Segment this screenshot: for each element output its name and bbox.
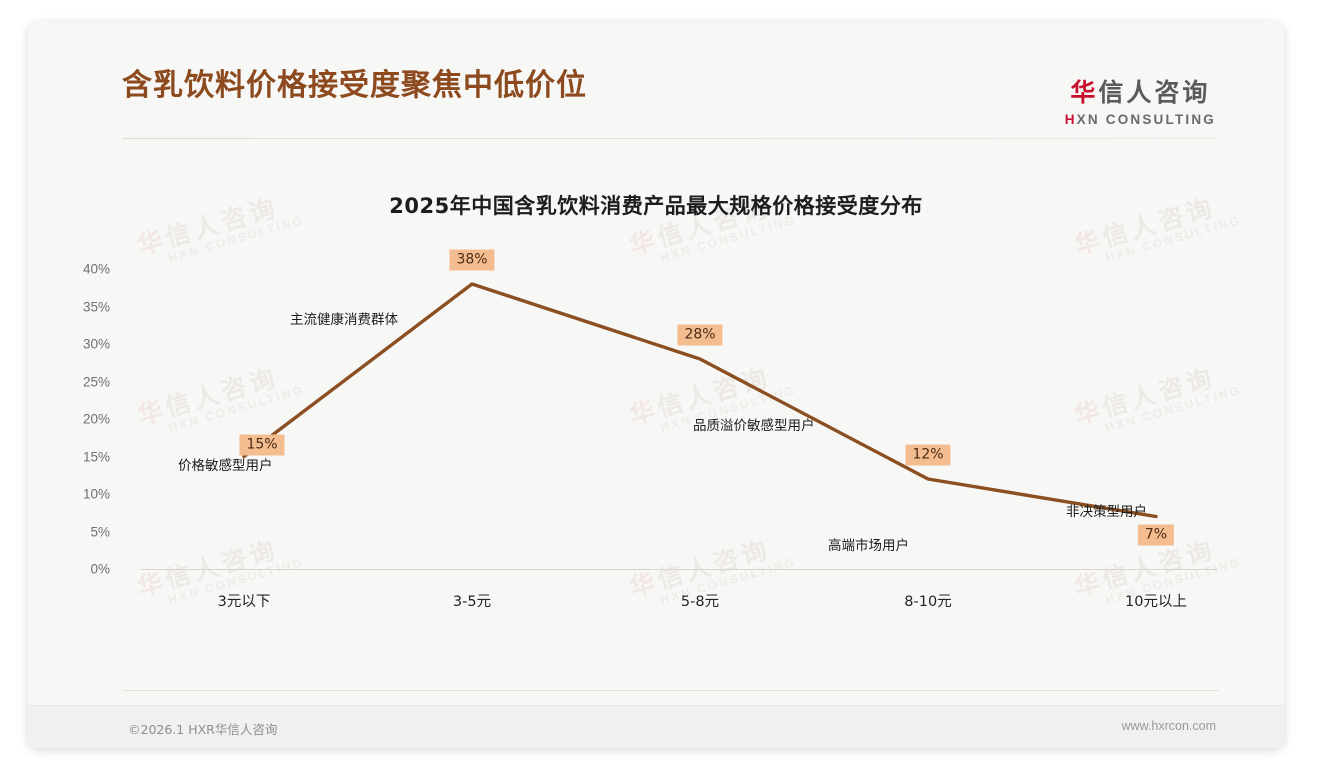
website-url: www.hxrcon.com [1122,719,1216,733]
chart-svg [28,22,1284,748]
x-axis-tick-label: 10元以上 [1125,590,1187,611]
logo-en-rest: XN CONSULTING [1077,112,1216,127]
logo-english: HXN CONSULTING [1065,112,1216,127]
chart-annotation: 品质溢价敏感型用户 [693,414,815,434]
brand-logo: 华信人咨询 HXN CONSULTING [1065,80,1216,127]
data-point-label: 12% [905,445,950,466]
bottom-bar: ©2026.1 HXR华信人咨询 www.hxrcon.com [28,705,1284,748]
x-axis-tick-label: 3-5元 [453,590,491,611]
logo-chinese: 华信人咨询 [1065,80,1216,105]
data-point-label: 15% [239,434,284,455]
line-chart: 0%5%10%15%20%25%30%35%40%3元以下3-5元5-8元8-1… [28,22,1284,748]
logo-cn-red: 华 [1070,78,1098,107]
header-divider [122,138,1219,139]
x-axis-tick-label: 5-8元 [681,590,719,611]
copyright-text: ©2026.1 HXR华信人咨询 [128,719,277,738]
chart-title: 2025年中国含乳饮料消费产品最大规格价格接受度分布 [28,190,1284,220]
logo-cn-rest: 信人咨询 [1098,78,1210,107]
y-axis-tick-label: 30% [56,337,110,352]
y-axis-tick-label: 0% [56,562,110,577]
chart-annotation: 价格敏感型用户 [178,454,273,474]
x-axis-tick-label: 8-10元 [904,590,951,611]
y-axis-tick-label: 5% [56,524,110,539]
y-axis-tick-label: 15% [56,449,110,464]
logo-en-red: H [1065,112,1077,127]
x-axis-line [140,569,1218,570]
page-title: 含乳饮料价格接受度聚焦中低价位 [122,60,587,104]
y-axis-tick-label: 35% [56,299,110,314]
y-axis-tick-label: 40% [56,262,110,277]
data-point-label: 28% [677,325,722,346]
chart-annotation: 高端市场用户 [828,534,909,554]
data-point-label: 38% [449,250,494,271]
y-axis-tick-label: 10% [56,487,110,502]
slide-header: 含乳饮料价格接受度聚焦中低价位 华信人咨询 HXN CONSULTING [28,22,1284,122]
y-axis-tick-label: 25% [56,374,110,389]
footer-divider [122,690,1219,691]
data-point-label: 7% [1138,524,1174,545]
chart-annotation: 主流健康消费群体 [290,308,398,328]
slide: 华信人咨询 HXN CONSULTING 华信人咨询 HXN CONSULTIN… [28,22,1284,748]
x-axis-tick-label: 3元以下 [218,590,271,611]
chart-annotation: 非决策型用户 [1066,500,1147,520]
y-axis-tick-label: 20% [56,412,110,427]
